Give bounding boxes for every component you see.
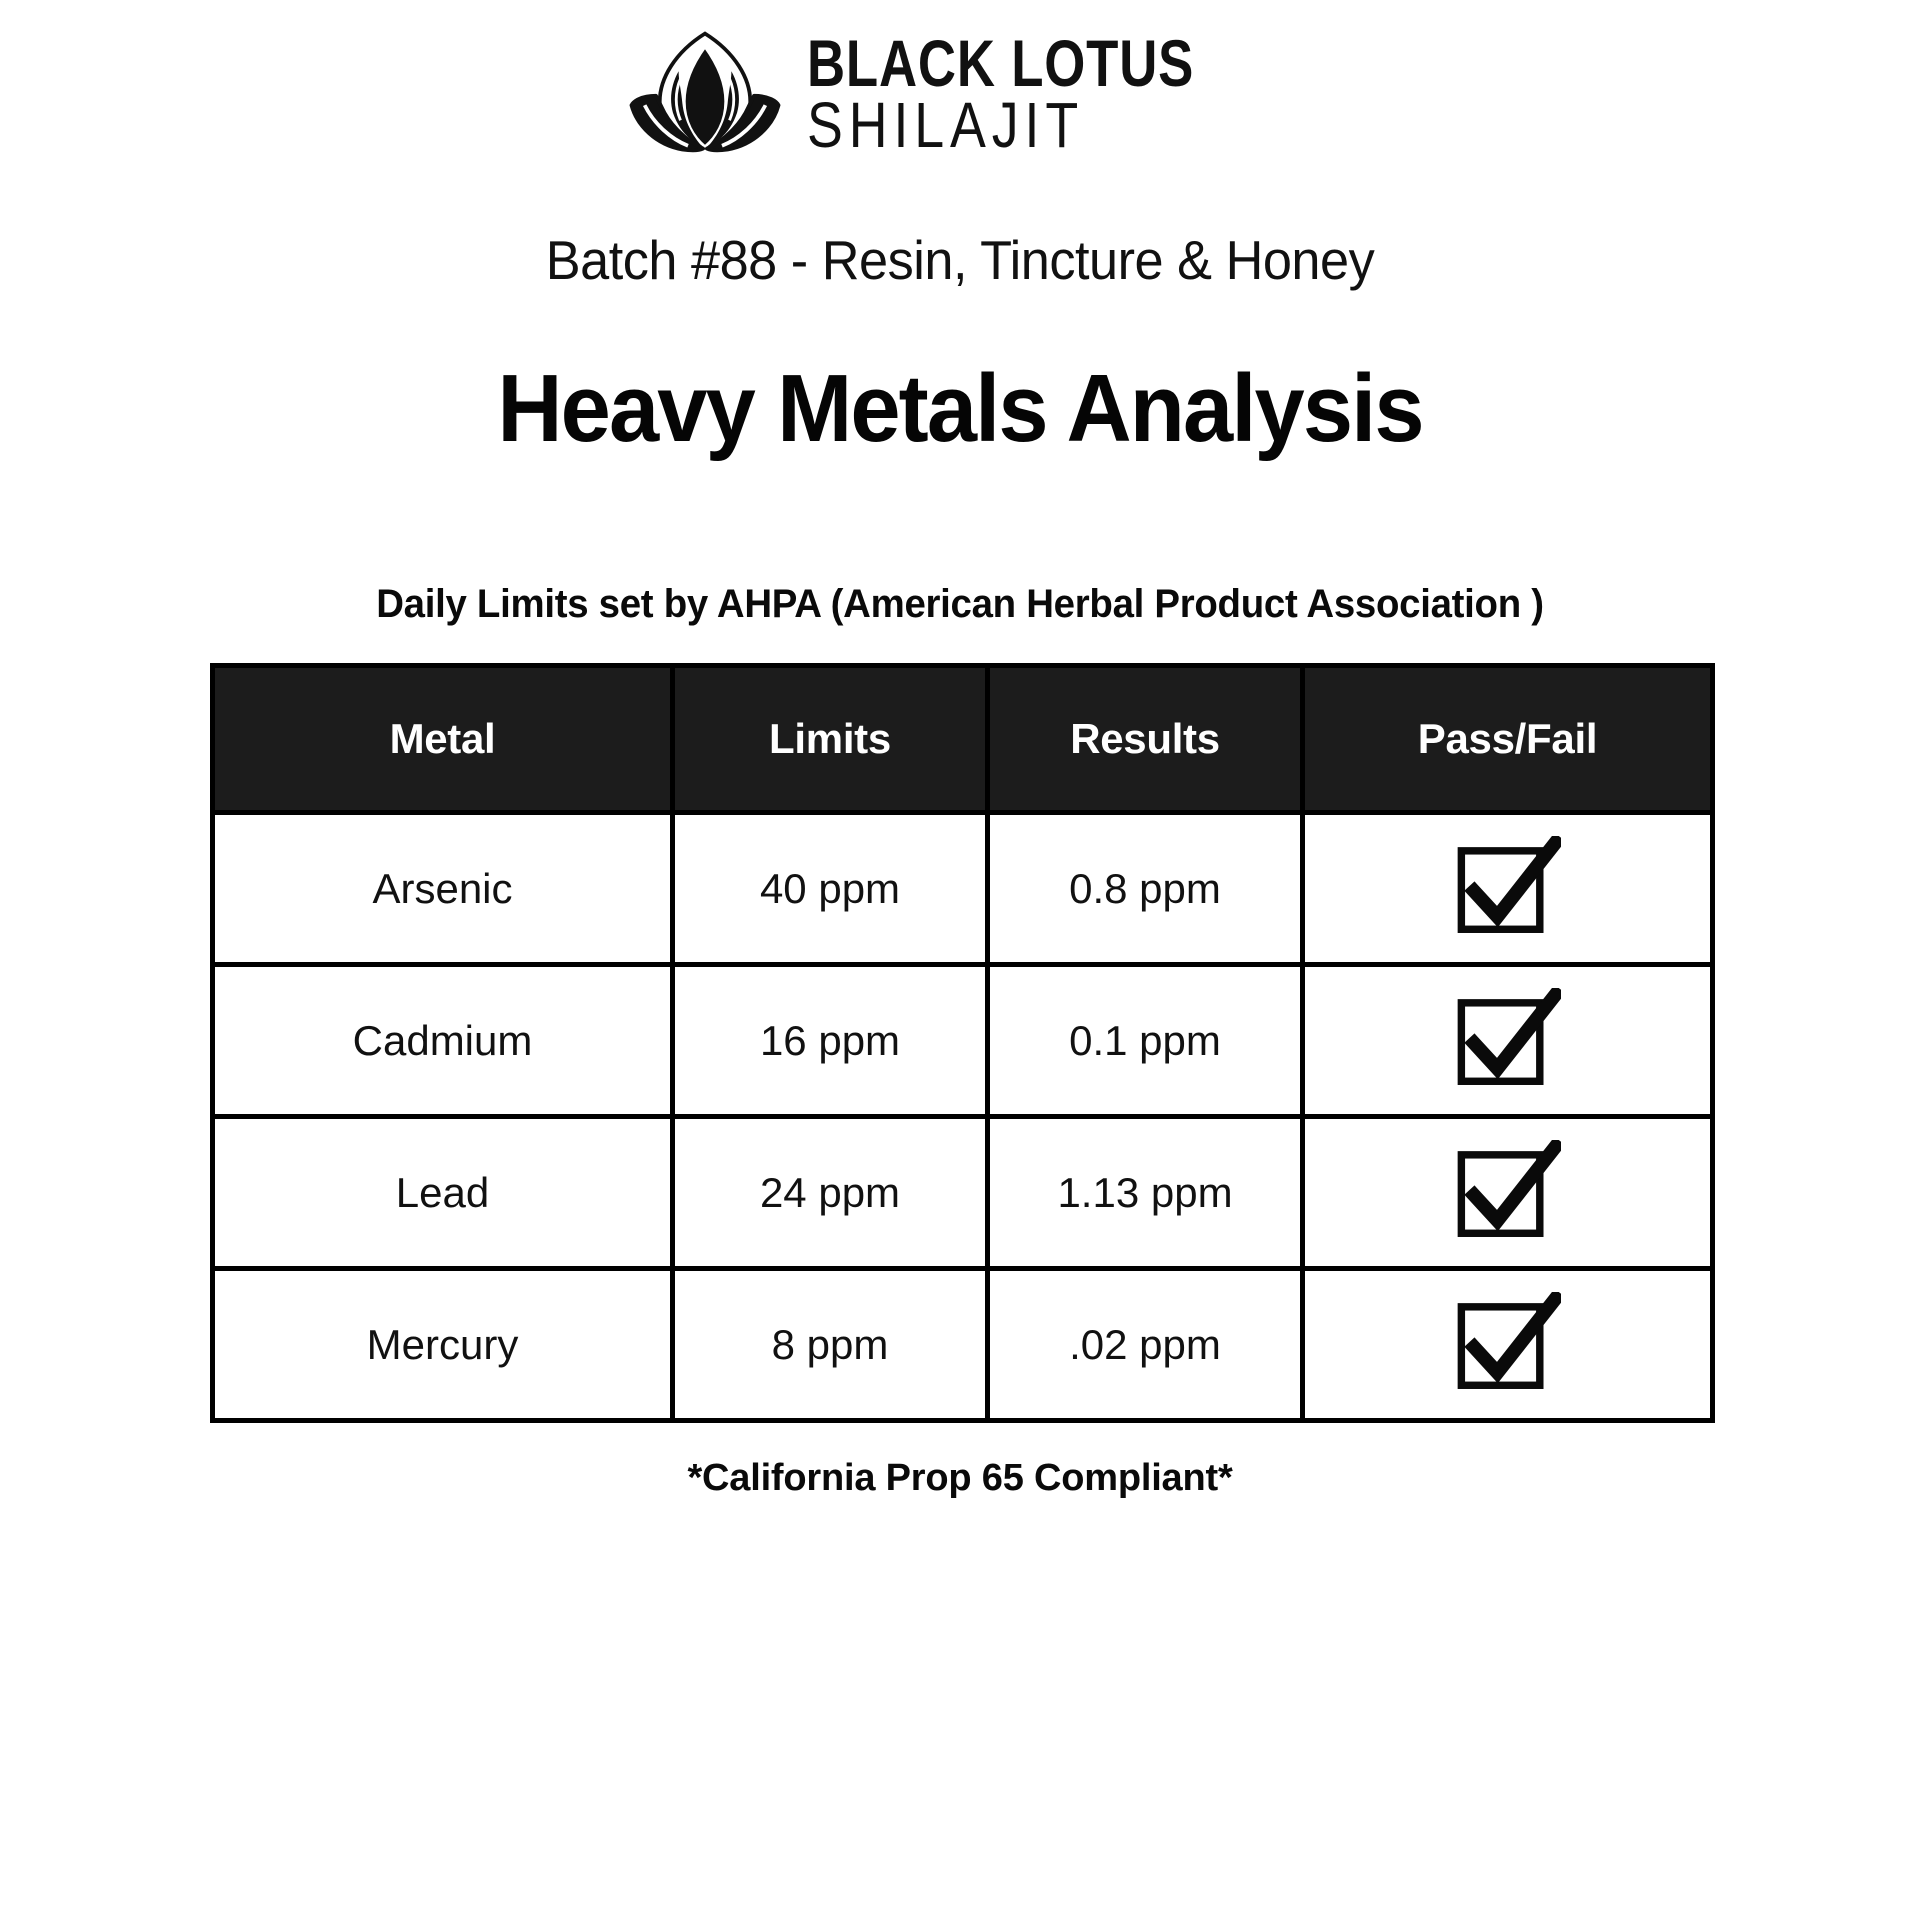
table-header-row: Metal Limits Results Pass/Fail bbox=[213, 666, 1713, 813]
cell-result: .02 ppm bbox=[988, 1269, 1303, 1421]
cell-metal: Cadmium bbox=[213, 965, 673, 1117]
cell-limit: 24 ppm bbox=[673, 1117, 988, 1269]
checkbox-checked-icon bbox=[1306, 836, 1709, 942]
cell-result: 1.13 ppm bbox=[988, 1117, 1303, 1269]
compliance-note: *California Prop 65 Compliant* bbox=[0, 1457, 1920, 1500]
cell-pass-fail bbox=[1303, 1269, 1713, 1421]
cell-limit: 8 ppm bbox=[673, 1269, 988, 1421]
cell-limit: 16 ppm bbox=[673, 965, 988, 1117]
column-header-limits: Limits bbox=[673, 666, 988, 813]
daily-limits-note: Daily Limits set by AHPA (American Herba… bbox=[38, 582, 1881, 627]
cell-pass-fail bbox=[1303, 1117, 1713, 1269]
cell-metal: Mercury bbox=[213, 1269, 673, 1421]
lotus-flower-icon bbox=[629, 26, 781, 158]
batch-subtitle: Batch #88 - Resin, Tincture & Honey bbox=[48, 228, 1872, 292]
heavy-metals-table-container: Metal Limits Results Pass/Fail Arsenic 4… bbox=[210, 663, 1710, 1423]
cell-result: 0.8 ppm bbox=[988, 813, 1303, 965]
cell-metal: Lead bbox=[213, 1117, 673, 1269]
table-row: Mercury 8 ppm .02 ppm bbox=[213, 1269, 1713, 1421]
heavy-metals-table: Metal Limits Results Pass/Fail Arsenic 4… bbox=[210, 663, 1715, 1423]
cell-pass-fail bbox=[1303, 813, 1713, 965]
page-title: Heavy Metals Analysis bbox=[58, 354, 1863, 464]
brand-wordmark: BLACK LOTUS SHILAJIT bbox=[807, 29, 1291, 155]
brand-name-secondary: SHILAJIT bbox=[807, 96, 1214, 155]
table-row: Arsenic 40 ppm 0.8 ppm bbox=[213, 813, 1713, 965]
checkbox-checked-icon bbox=[1306, 1292, 1709, 1398]
checkbox-checked-icon bbox=[1306, 988, 1709, 1094]
table-row: Cadmium 16 ppm 0.1 ppm bbox=[213, 965, 1713, 1117]
brand-logo: BLACK LOTUS SHILAJIT bbox=[0, 0, 1920, 150]
cell-result: 0.1 ppm bbox=[988, 965, 1303, 1117]
coa-page: BLACK LOTUS SHILAJIT Batch #88 - Resin, … bbox=[0, 0, 1920, 1920]
checkbox-checked-icon bbox=[1306, 1140, 1709, 1246]
table-body: Arsenic 40 ppm 0.8 ppm Cadmium bbox=[213, 813, 1713, 1421]
column-header-pass-fail: Pass/Fail bbox=[1303, 666, 1713, 813]
cell-limit: 40 ppm bbox=[673, 813, 988, 965]
brand-name-primary: BLACK LOTUS bbox=[807, 33, 1194, 94]
cell-metal: Arsenic bbox=[213, 813, 673, 965]
column-header-results: Results bbox=[988, 666, 1303, 813]
cell-pass-fail bbox=[1303, 965, 1713, 1117]
column-header-metal: Metal bbox=[213, 666, 673, 813]
table-row: Lead 24 ppm 1.13 ppm bbox=[213, 1117, 1713, 1269]
table-header: Metal Limits Results Pass/Fail bbox=[213, 666, 1713, 813]
